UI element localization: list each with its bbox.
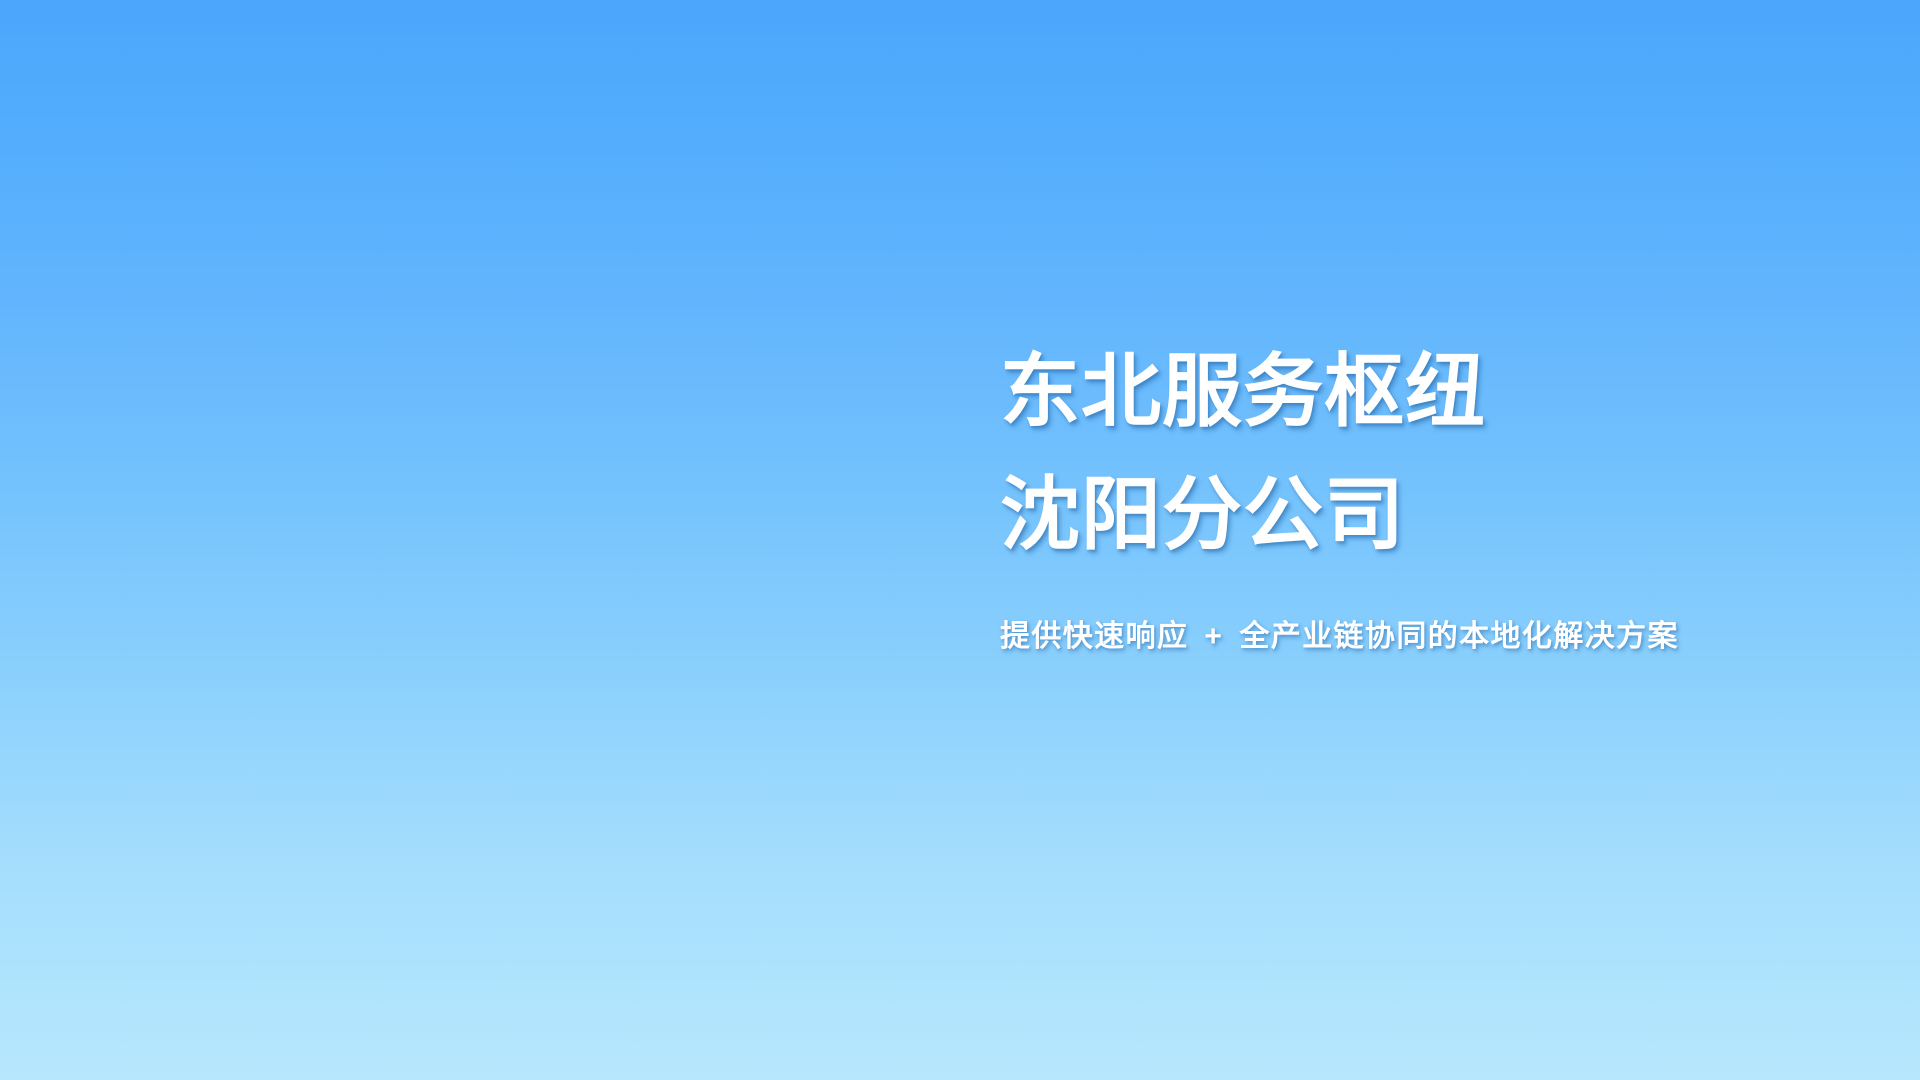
page-subtitle: 提供快速响应+全产业链协同的本地化解决方案 — [1000, 616, 1860, 658]
title-slide: 东北服务枢纽 沈阳分公司 提供快速响应+全产业链协同的本地化解决方案 — [0, 0, 1920, 1080]
hero-content: 东北服务枢纽 沈阳分公司 提供快速响应+全产业链协同的本地化解决方案 — [1000, 330, 1860, 658]
page-title-line-1: 东北服务枢纽 — [1000, 330, 1860, 453]
page-title-line-2: 沈阳分公司 — [1000, 453, 1860, 576]
page-title: 东北服务枢纽 沈阳分公司 — [1000, 330, 1860, 576]
subtitle-plus-separator: + — [1188, 620, 1239, 653]
subtitle-segment-left: 提供快速响应 — [1000, 620, 1188, 653]
subtitle-segment-right: 全产业链协同的本地化解决方案 — [1239, 620, 1679, 653]
